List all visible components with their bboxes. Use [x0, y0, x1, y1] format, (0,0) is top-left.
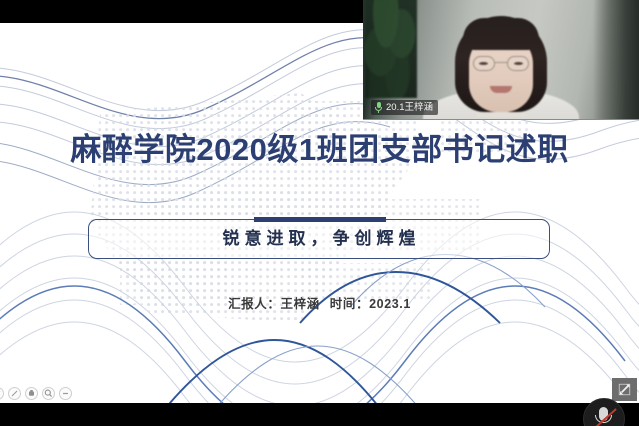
- zoom-out-icon[interactable]: [59, 387, 72, 400]
- expand-fullscreen-button[interactable]: [612, 378, 637, 401]
- byline-reporter-label: 汇报人：: [228, 297, 280, 311]
- webcam-video-tile[interactable]: 20.1王梓涵: [363, 0, 639, 120]
- byline-time-value: 2023.1: [369, 297, 411, 311]
- zoom-tool-icon[interactable]: [42, 387, 55, 400]
- annotation-toolbar[interactable]: [0, 387, 72, 400]
- participant-name-label: 20.1王梓涵: [386, 100, 433, 115]
- pen-tool-icon[interactable]: [0, 387, 4, 400]
- letterbox-top-bar: [0, 0, 364, 23]
- screen-share-viewer: 麻醉学院2020级1班团支部书记述职 锐意进取，争创辉煌 汇报人：王梓涵时间：2…: [0, 0, 639, 426]
- byline-time-label: 时间：: [330, 297, 369, 311]
- letterbox-bottom-bar: [0, 403, 639, 426]
- stamp-tool-icon[interactable]: [25, 387, 38, 400]
- slide-subtitle: 锐意进取，争创辉煌: [88, 219, 550, 259]
- byline-reporter-name: 王梓涵: [280, 297, 319, 311]
- slide-title: 麻醉学院2020级1班团支部书记述职: [0, 124, 639, 169]
- expand-arrow-icon: [617, 382, 632, 397]
- participant-name-tag: 20.1王梓涵: [371, 100, 438, 115]
- microphone-icon: [374, 102, 383, 113]
- highlight-tool-icon[interactable]: [8, 387, 21, 400]
- slide-byline: 汇报人：王梓涵时间：2023.1: [0, 293, 639, 312]
